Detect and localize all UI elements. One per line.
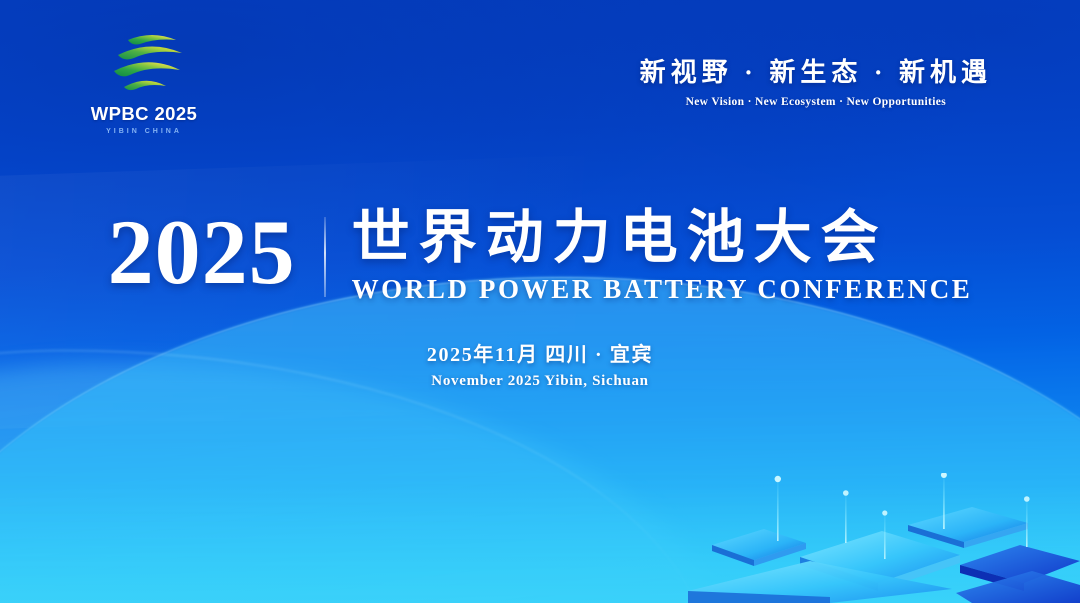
globe-arcs-logo-icon bbox=[94, 26, 194, 100]
slogan-chinese: 新视野 · 新生态 · 新机遇 bbox=[640, 52, 992, 89]
date-chinese: 2025年11月 四川 · 宜宾 bbox=[0, 338, 1080, 367]
title-chinese: 世界动力电池大会 bbox=[352, 205, 973, 271]
conference-banner: WPBC 2025 YIBIN CHINA 新视野 · 新生态 · 新机遇 Ne… bbox=[0, 0, 1080, 603]
title-year: 2025 bbox=[108, 203, 296, 295]
slogan-english: New Vision · New Ecosystem · New Opportu… bbox=[640, 96, 992, 108]
logo-wordmark: WPBC 2025 bbox=[85, 103, 203, 125]
main-title-block: 2025 世界动力电池大会 WORLD POWER BATTERY CONFER… bbox=[0, 203, 1080, 305]
date-location-block: 2025年11月 四川 · 宜宾 November 2025 Yibin, Si… bbox=[0, 338, 1080, 390]
wpbc-logo: WPBC 2025 YIBIN CHINA bbox=[85, 26, 203, 135]
slogan: 新视野 · 新生态 · 新机遇 New Vision · New Ecosyst… bbox=[640, 52, 992, 108]
title-english: WORLD POWER BATTERY CONFERENCE bbox=[352, 273, 973, 305]
title-divider bbox=[324, 217, 326, 297]
date-english: November 2025 Yibin, Sichuan bbox=[0, 373, 1080, 390]
logo-location: YIBIN CHINA bbox=[85, 128, 203, 135]
title-text-group: 世界动力电池大会 WORLD POWER BATTERY CONFERENCE bbox=[352, 203, 973, 305]
background-bottom-glow bbox=[0, 483, 1080, 603]
